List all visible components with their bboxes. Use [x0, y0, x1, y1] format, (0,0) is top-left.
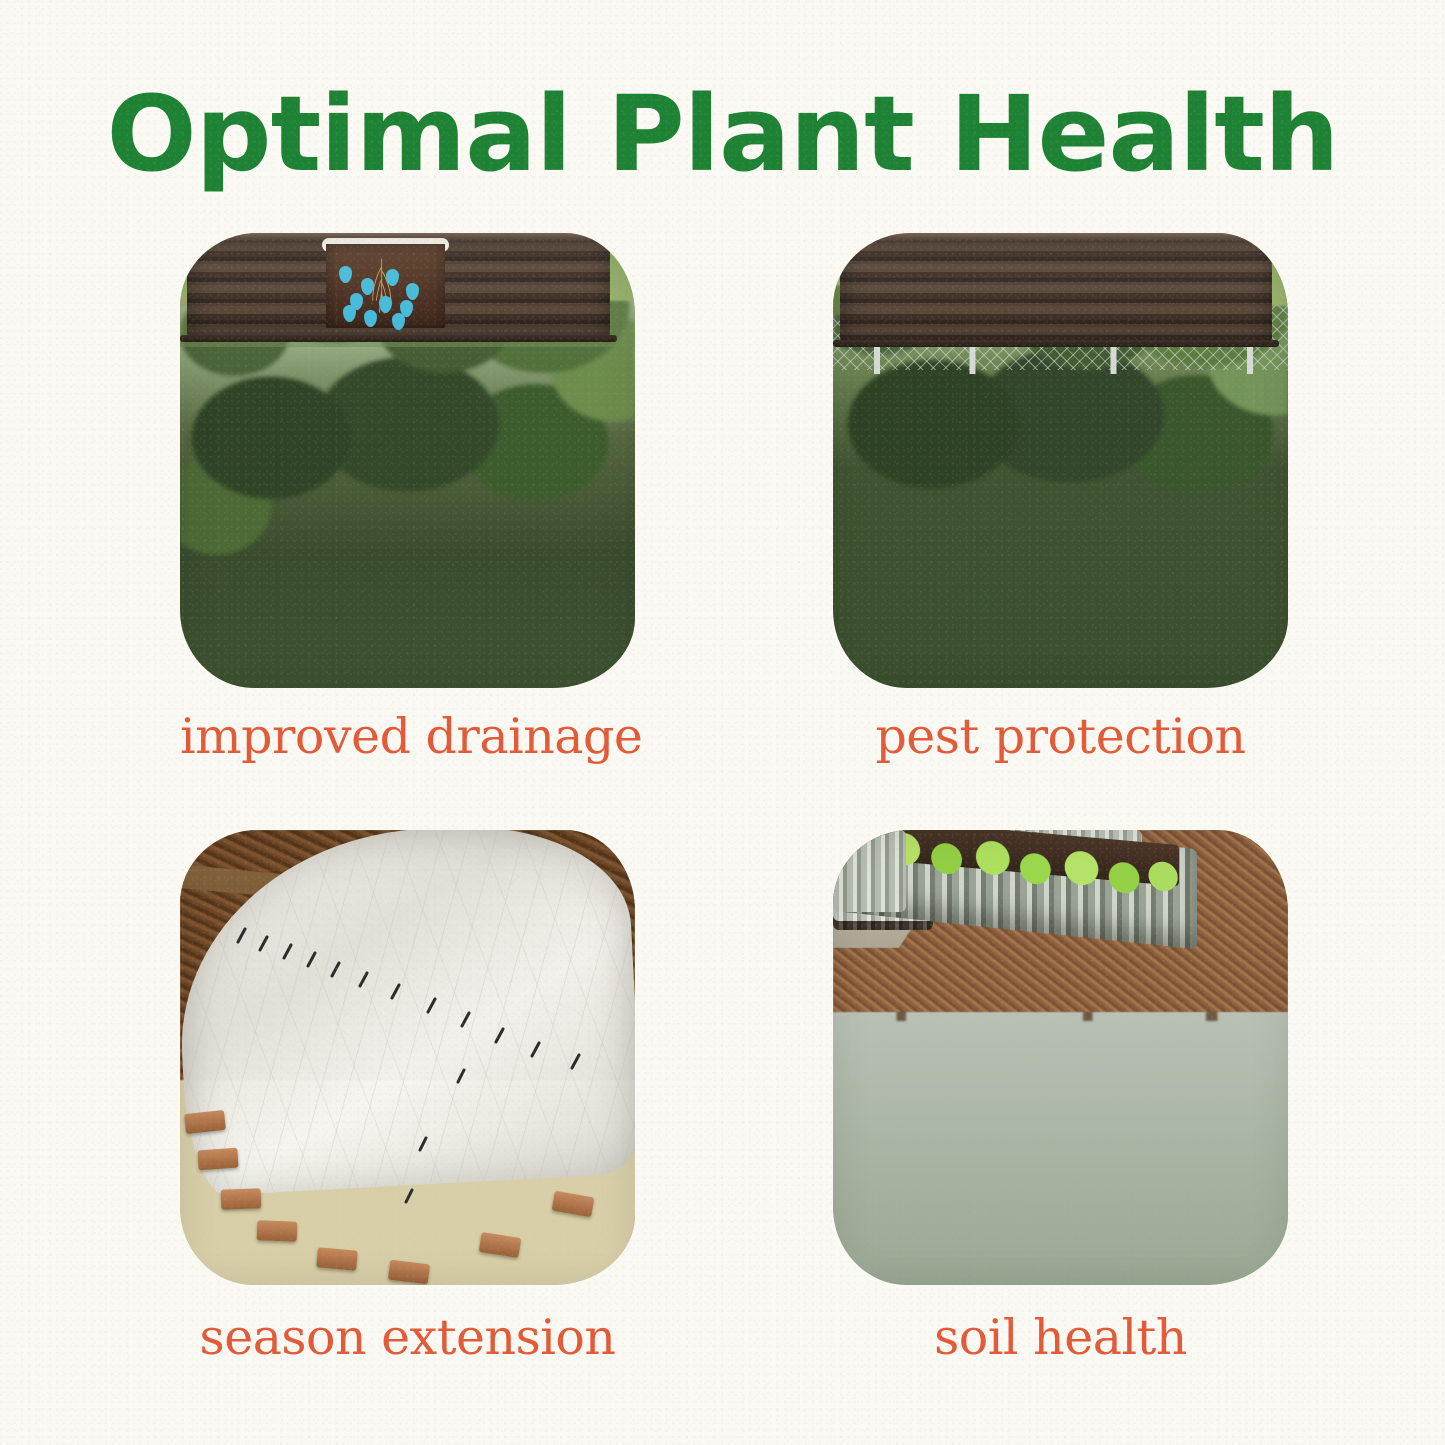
photo-improved-drainage	[180, 233, 635, 688]
feature-card-improved-drainage: improved drainage	[180, 233, 635, 764]
photo-vignette	[180, 233, 635, 688]
feature-card-season-extension: season extension	[180, 830, 635, 1365]
photo-season-extension	[180, 830, 635, 1285]
caption-season-extension: season extension	[180, 1311, 635, 1365]
photo-soil-health	[833, 830, 1288, 1285]
photo-vignette	[833, 233, 1288, 688]
feature-grid: improved drainage pest protection	[180, 233, 1268, 1423]
photo-vignette	[833, 830, 1288, 1285]
feature-card-soil-health: soil health	[833, 830, 1288, 1365]
photo-pest-protection	[833, 233, 1288, 688]
page-title: Optimal Plant Health	[0, 82, 1445, 186]
caption-soil-health: soil health	[833, 1311, 1288, 1365]
photo-vignette	[180, 830, 635, 1285]
poster-root: Optimal Plant Health	[0, 0, 1445, 1445]
caption-pest-protection: pest protection	[833, 710, 1288, 764]
feature-card-pest-protection: pest protection	[833, 233, 1288, 764]
caption-improved-drainage: improved drainage	[180, 710, 635, 764]
